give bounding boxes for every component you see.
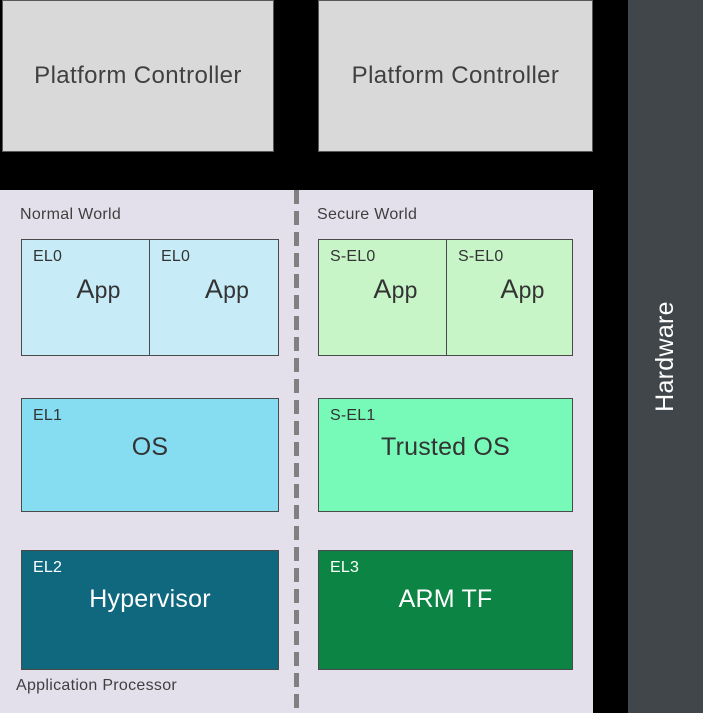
level-name-label: OS <box>22 433 278 462</box>
architecture-diagram: Platform Controller Platform Controller … <box>0 0 703 713</box>
hardware-bar: Hardware <box>628 0 703 713</box>
secure-world-sel1-trusted-os-box: S-EL1 Trusted OS <box>318 398 573 512</box>
level-name-label: ARM TF <box>319 585 572 614</box>
normal-world-el0-app-box-1: EL0 App <box>21 239 150 356</box>
level-name-label: App <box>447 274 572 305</box>
exception-level-tag: EL0 <box>161 248 190 266</box>
level-name-label: App <box>150 274 278 305</box>
normal-world-el0-app-box-2: EL0 App <box>149 239 279 356</box>
world-divider-dashed-line <box>294 190 299 713</box>
level-name-label: Hypervisor <box>22 585 278 614</box>
application-processor-label: Application Processor <box>16 677 177 695</box>
exception-level-tag: EL1 <box>33 407 62 425</box>
level-name-label: App <box>319 274 446 305</box>
normal-world-el2-hypervisor-box: EL2 Hypervisor <box>21 550 279 670</box>
exception-level-tag: S-EL1 <box>330 407 375 425</box>
platform-controller-label: Platform Controller <box>352 62 560 90</box>
normal-world-title: Normal World <box>20 206 121 224</box>
platform-controller-label: Platform Controller <box>34 62 242 90</box>
exception-level-tag: EL0 <box>33 248 62 266</box>
secure-world-title: Secure World <box>317 206 417 224</box>
secure-world-sel0-app-box-1: S-EL0 App <box>318 239 447 356</box>
exception-level-tag: S-EL0 <box>458 248 503 266</box>
hardware-label: Hardware <box>651 301 680 412</box>
exception-level-tag: S-EL0 <box>330 248 375 266</box>
level-name-label: Trusted OS <box>319 433 572 462</box>
exception-level-tag: EL2 <box>33 559 62 577</box>
level-name-label: App <box>22 274 149 305</box>
secure-world-sel0-app-box-2: S-EL0 App <box>446 239 573 356</box>
secure-world-el3-arm-tf-box: EL3 ARM TF <box>318 550 573 670</box>
platform-controller-box-2: Platform Controller <box>318 0 593 152</box>
exception-level-tag: EL3 <box>330 559 359 577</box>
platform-controller-box-1: Platform Controller <box>2 0 274 152</box>
normal-world-el1-os-box: EL1 OS <box>21 398 279 512</box>
